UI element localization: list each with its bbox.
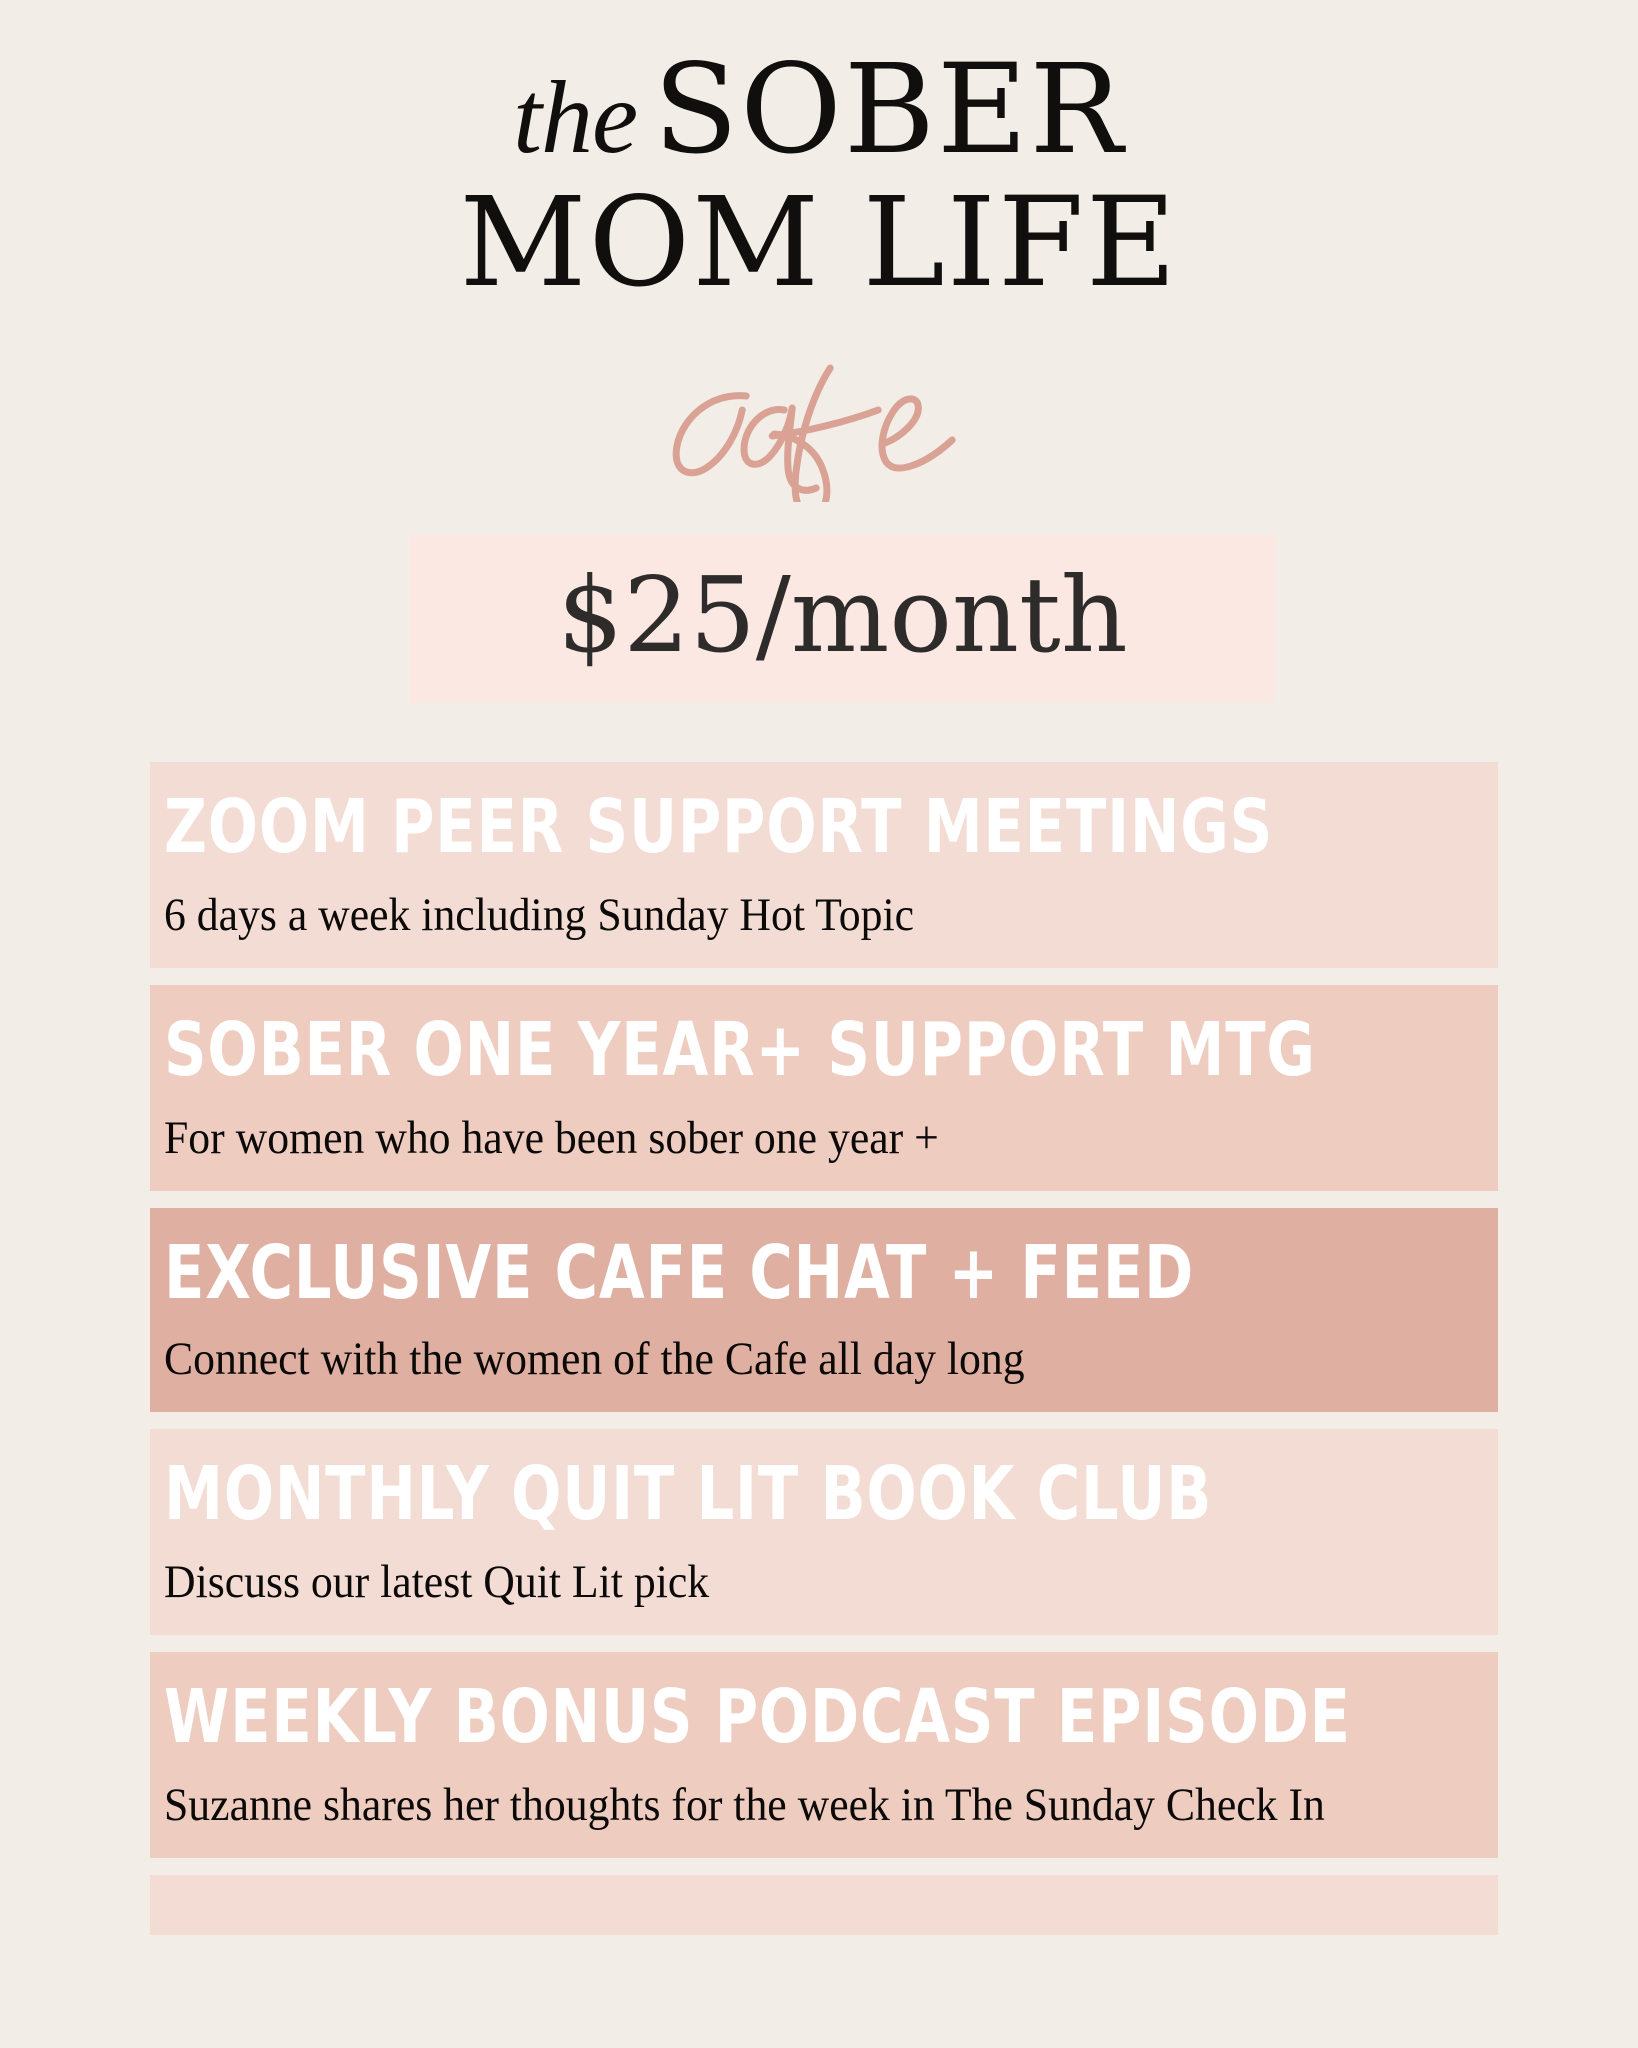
feature-list: ZOOM PEER SUPPORT MEETINGS 6 days a week…: [150, 762, 1498, 1935]
feature-subtitle: For women who have been sober one year +: [164, 1093, 1393, 1165]
feature-title: MONTHLY QUIT LIT BOOK CLUB: [164, 1457, 1222, 1531]
brand-word-the: the: [513, 60, 653, 175]
feature-title: ZOOM PEER SUPPORT MEETINGS: [164, 790, 1222, 864]
feature-row[interactable]: WEEKLY BONUS PODCAST EPISODE Suzanne sha…: [150, 1652, 1498, 1858]
brand-script-cafe: [0, 352, 1638, 502]
brand-logo-line-2: MOM LIFE: [0, 178, 1638, 308]
feature-row-partial[interactable]: [150, 1875, 1498, 1935]
feature-subtitle: Connect with the women of the Cafe all d…: [164, 1316, 1393, 1386]
feature-subtitle: Discuss our latest Quit Lit pick: [164, 1537, 1393, 1609]
price-band: $25/month: [410, 535, 1275, 703]
feature-row[interactable]: EXCLUSIVE CAFE CHAT + FEED Connect with …: [150, 1208, 1498, 1412]
feature-row[interactable]: ZOOM PEER SUPPORT MEETINGS 6 days a week…: [150, 762, 1498, 968]
feature-subtitle: 6 days a week including Sunday Hot Topic: [164, 870, 1393, 942]
brand-logo: theSOBER MOM LIFE: [0, 0, 1638, 308]
price-label: $25/month: [557, 563, 1128, 667]
brand-logo-line-1: theSOBER: [0, 48, 1638, 172]
brand-word-sober: SOBER: [653, 38, 1125, 182]
feature-row[interactable]: SOBER ONE YEAR+ SUPPORT MTG For women wh…: [150, 985, 1498, 1191]
feature-title: SOBER ONE YEAR+ SUPPORT MTG: [164, 1013, 1222, 1087]
cafe-script-icon: [634, 352, 1054, 502]
feature-row[interactable]: MONTHLY QUIT LIT BOOK CLUB Discuss our l…: [150, 1429, 1498, 1635]
feature-subtitle: Suzanne shares her thoughts for the week…: [164, 1760, 1393, 1832]
feature-title: EXCLUSIVE CAFE CHAT + FEED: [164, 1236, 1222, 1310]
feature-title: WEEKLY BONUS PODCAST EPISODE: [164, 1680, 1222, 1754]
